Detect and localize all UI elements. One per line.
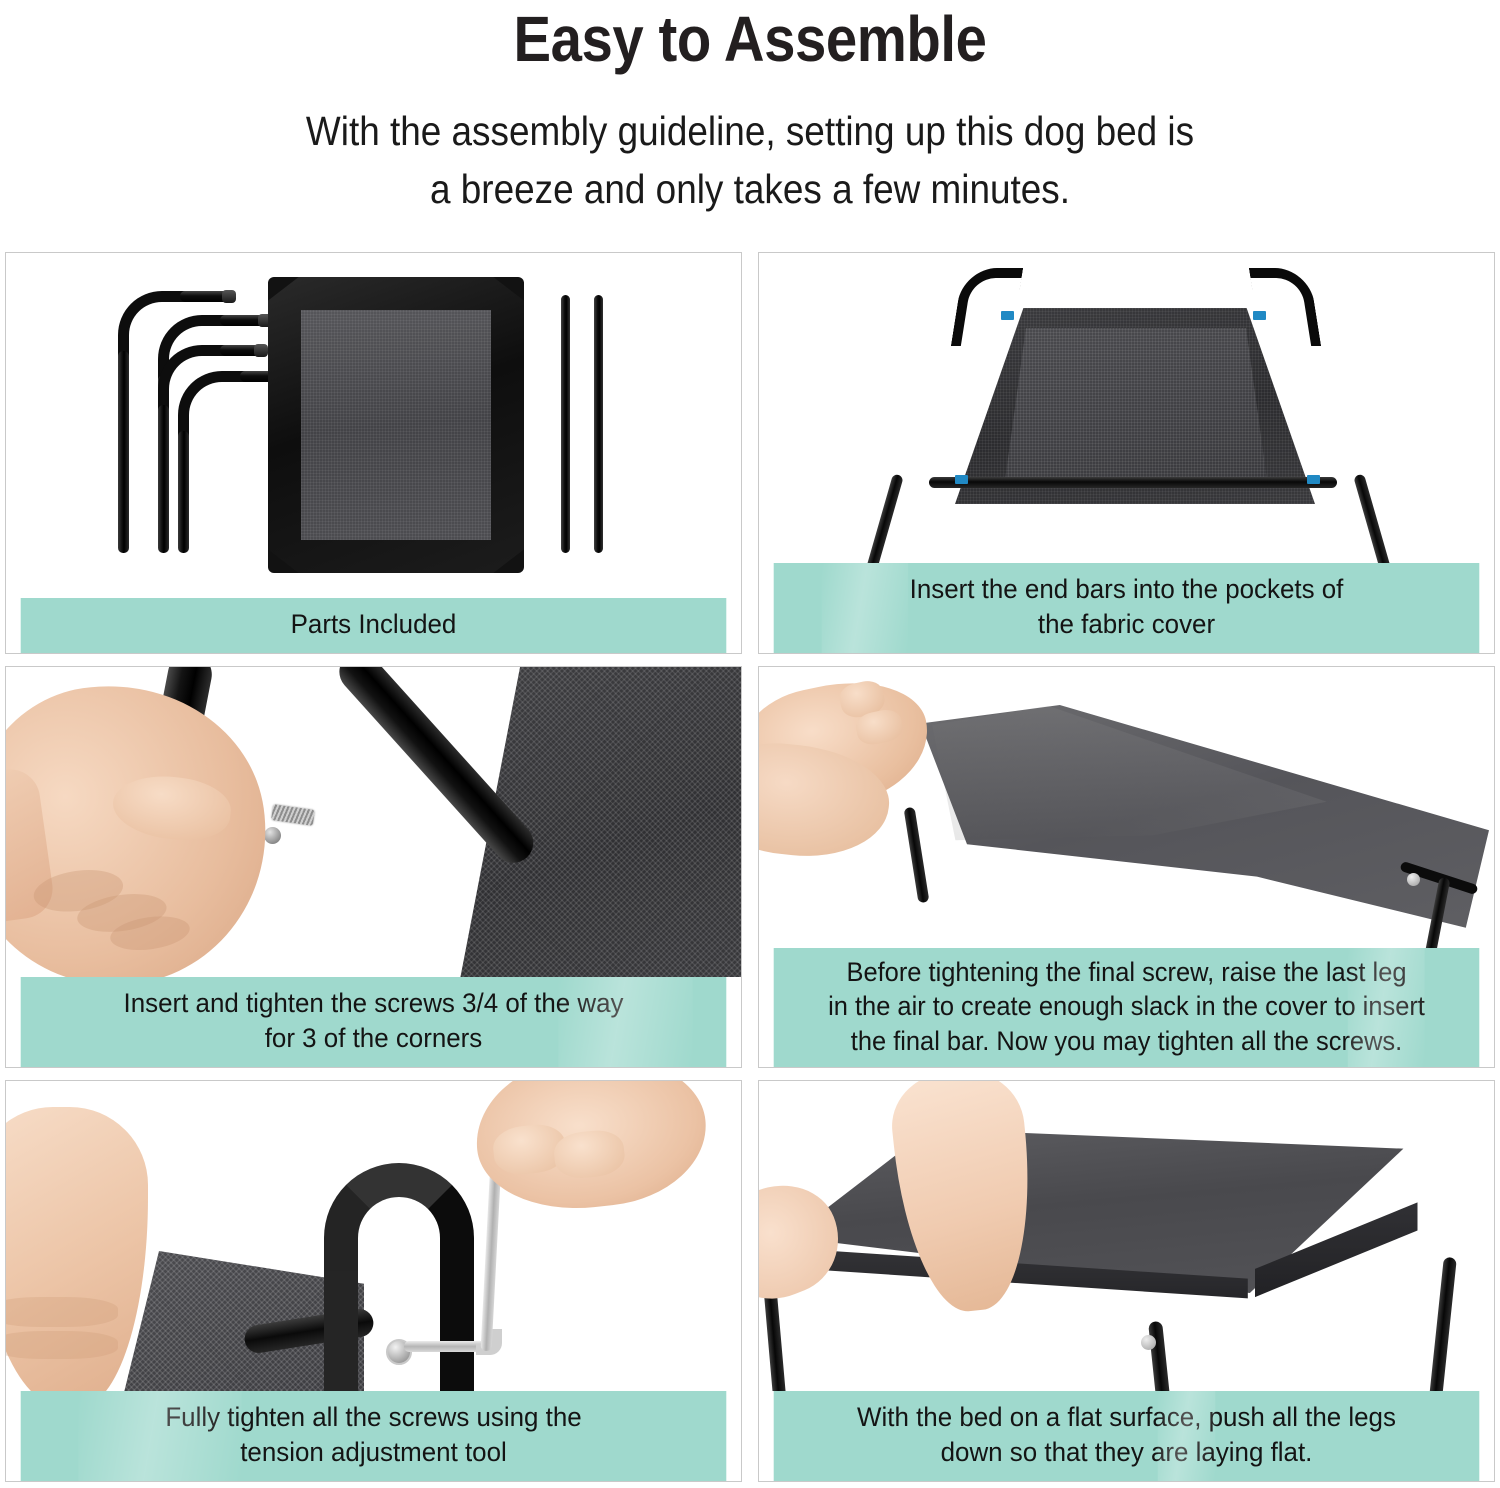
step-6-caption: With the bed on a flat surface, push all… [774, 1391, 1480, 1481]
end-bar-part-1 [561, 295, 570, 553]
page-title: Easy to Assemble [90, 4, 1410, 76]
front-right-leg [1353, 473, 1399, 562]
front-leg-bolt [1141, 1335, 1156, 1350]
bed-with-end-bars-illustration [759, 253, 1494, 563]
cover-mesh-center [1005, 328, 1267, 480]
step-2-caption: Insert the end bars into the pockets of … [774, 563, 1480, 653]
page-subtitle-line-2: a breeze and only takes a few minutes. [75, 160, 1425, 218]
step-1-caption-line-1: Parts Included [30, 607, 716, 642]
page-header: Easy to Assemble With the assembly guide… [0, 0, 1500, 218]
corner-label-right [1307, 475, 1320, 484]
hand-holding-hex-key [469, 1081, 713, 1219]
step-5-photo [6, 1081, 741, 1391]
corner-label-top-right [1253, 311, 1266, 320]
step-4-caption: Before tightening the final screw, raise… [774, 948, 1480, 1067]
step-2-caption-line-2: the fabric cover [783, 607, 1469, 642]
standing-leg [904, 807, 930, 904]
hex-key-illustration [6, 1081, 741, 1391]
page-subtitle-line-1: With the assembly guideline, setting up … [75, 102, 1425, 160]
step-4-caption-line-1: Before tightening the final screw, raise… [779, 955, 1473, 989]
step-5-caption-line-1: Fully tighten all the screws using the [30, 1400, 716, 1435]
step-6-caption-line-1: With the bed on a flat surface, push all… [783, 1400, 1469, 1435]
end-bar-hook-right [1249, 268, 1321, 346]
raise-leg-illustration [759, 667, 1494, 948]
step-panel-3: Insert and tighten the screws 3/4 of the… [5, 666, 742, 1068]
step-3-caption-line-1: Insert and tighten the screws 3/4 of the… [30, 986, 716, 1021]
screw [271, 804, 315, 826]
step-2-caption-line-1: Insert the end bars into the pockets of [783, 572, 1469, 607]
step-5-caption: Fully tighten all the screws using the t… [21, 1391, 727, 1481]
corner-label-top-left [1001, 311, 1014, 320]
bed-leg-front [1148, 1321, 1184, 1391]
step-panel-2: Insert the end bars into the pockets of … [758, 252, 1495, 654]
step-4-caption-line-3: the final bar. Now you may tighten all t… [779, 1024, 1473, 1058]
steps-grid: Parts Included [5, 252, 1495, 1486]
screw-head [264, 827, 281, 844]
step-panel-5: Fully tighten all the screws using the t… [5, 1080, 742, 1482]
step-panel-6: With the bed on a flat surface, push all… [758, 1080, 1495, 1482]
page-subtitle: With the assembly guideline, setting up … [75, 102, 1425, 218]
end-bar-part-2 [594, 295, 603, 553]
end-bar-hook-left [951, 268, 1023, 346]
step-6-photo [759, 1081, 1494, 1391]
step-1-caption: Parts Included [21, 598, 727, 653]
step-4-caption-line-2: in the air to create enough slack in the… [779, 989, 1473, 1023]
front-left-leg [858, 473, 904, 562]
step-panel-4: Before tightening the final screw, raise… [758, 666, 1495, 1068]
step-2-photo [759, 253, 1494, 563]
flat-bed-illustration [759, 1081, 1494, 1391]
hand-holding-screw [6, 667, 285, 977]
corner-bolt [1407, 873, 1420, 886]
step-1-photo [6, 253, 741, 598]
assembly-instruction-page: Easy to Assemble With the assembly guide… [0, 0, 1500, 1488]
step-4-photo [759, 667, 1494, 948]
hand-holding-mesh [6, 1107, 148, 1391]
screw-insert-illustration [6, 667, 741, 977]
step-6-caption-line-2: down so that they are laying flat. [783, 1435, 1469, 1470]
step-3-photo [6, 667, 741, 977]
bed-leg-right [1426, 1257, 1457, 1391]
parts-illustration [6, 253, 741, 598]
front-rail [929, 477, 1337, 488]
fabric-cover-part [268, 277, 524, 573]
step-panel-1: Parts Included [5, 252, 742, 654]
step-3-caption-line-2: for 3 of the corners [30, 1021, 716, 1056]
corner-label-left [955, 475, 968, 484]
step-3-caption: Insert and tighten the screws 3/4 of the… [21, 977, 727, 1067]
step-5-caption-line-2: tension adjustment tool [30, 1435, 716, 1470]
